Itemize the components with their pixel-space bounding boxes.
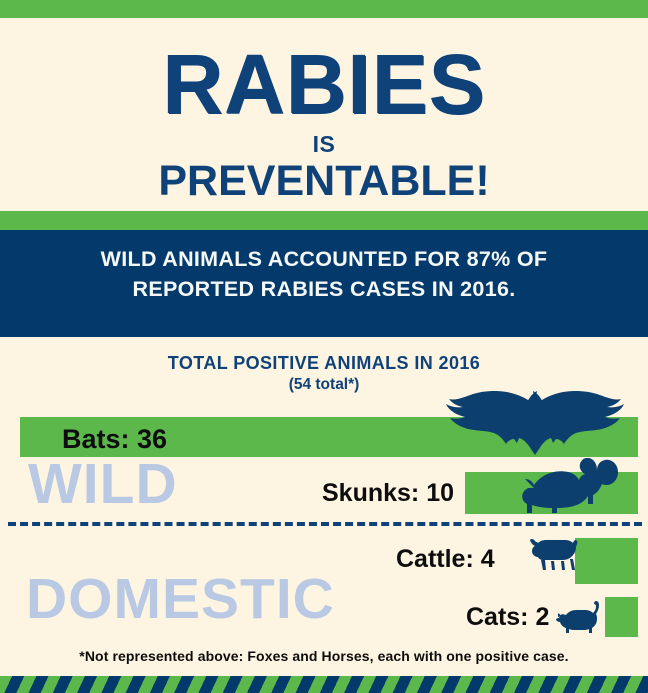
cow-icon (530, 536, 578, 571)
group-label-wild: WILD (28, 455, 178, 513)
chart-title: TOTAL POSITIVE ANIMALS IN 2016 (0, 352, 648, 374)
banner-line-1: WILD ANIMALS ACCOUNTED FOR 87% OF (0, 244, 648, 274)
top-green-band (0, 0, 648, 18)
bar-cats (605, 597, 638, 637)
bottom-stripe-band (0, 676, 648, 693)
bat-icon (443, 391, 645, 463)
title-block: RABIES IS PREVENTABLE! (0, 18, 648, 211)
group-divider (8, 522, 642, 526)
bar-label-skunks: Skunks: 10 (322, 479, 454, 508)
footnote: *Not represented above: Foxes and Horses… (0, 648, 648, 664)
banner-line-2: REPORTED RABIES CASES IN 2016. (0, 274, 648, 304)
bar-cattle (575, 538, 638, 584)
title-rabies: RABIES (0, 42, 648, 126)
infographic-canvas: RABIES IS PREVENTABLE! WILD ANIMALS ACCO… (0, 0, 648, 693)
chart-heading: TOTAL POSITIVE ANIMALS IN 2016 (54 total… (0, 352, 648, 395)
title-preventable: PREVENTABLE! (0, 158, 648, 204)
skunk-icon (520, 458, 638, 516)
mid-green-band (0, 211, 648, 230)
bar-label-bats: Bats: 36 (62, 424, 167, 455)
group-label-domestic: DOMESTIC (26, 570, 335, 628)
title-is: IS (0, 132, 648, 156)
bar-label-cats: Cats: 2 (466, 603, 549, 632)
bar-label-cattle: Cattle: 4 (396, 545, 495, 574)
cat-icon (556, 600, 600, 634)
statistic-banner: WILD ANIMALS ACCOUNTED FOR 87% OF REPORT… (0, 244, 648, 304)
